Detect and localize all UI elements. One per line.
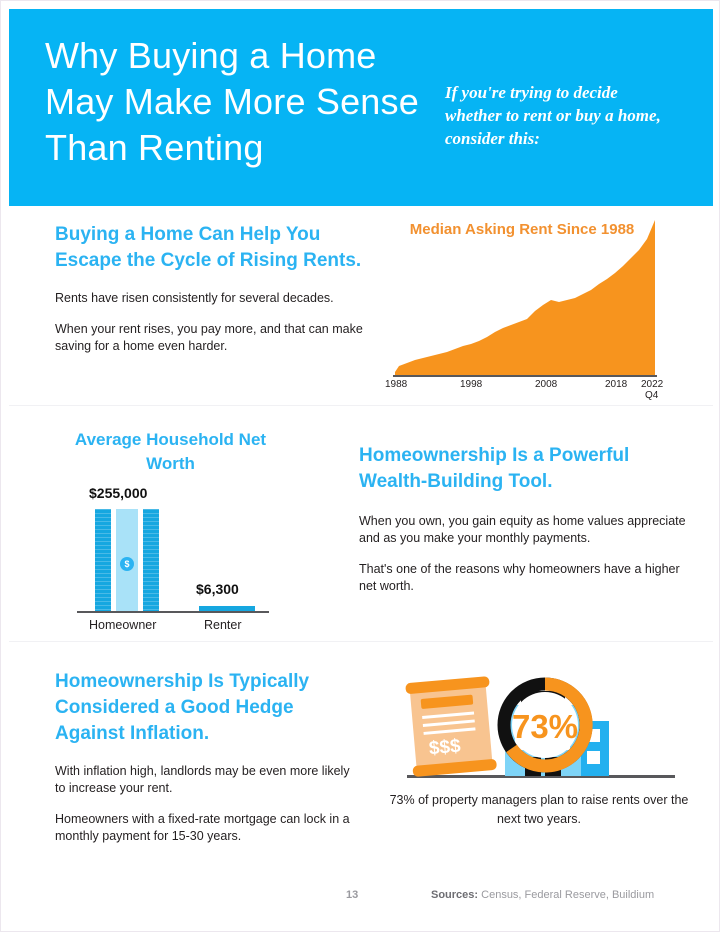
rent-tick-2018: 2018 (605, 379, 627, 391)
net-worth-bar-chart: $255,000 $ $6,300 Homeowner Renter (63, 485, 278, 635)
rent-axis-line (393, 375, 657, 377)
inflation-text-block: Homeownership Is Typically Considered a … (55, 669, 355, 845)
rent-tick-1988: 1988 (385, 379, 407, 391)
section-net-worth: Average Household Net Worth $255,000 $ $… (1, 405, 720, 641)
inflation-paragraph-1: With inflation high, landlords may be ev… (55, 763, 355, 797)
rising-rents-heading: Buying a Home Can Help You Escape the Cy… (55, 222, 375, 274)
wealth-building-paragraph-2: That's one of the reasons why homeowners… (359, 561, 699, 595)
category-renter: Renter (204, 618, 242, 632)
svg-text:$$$: $$$ (428, 736, 462, 760)
net-worth-chart-title: Average Household Net Worth (63, 428, 278, 476)
rent-area-path (395, 220, 655, 375)
wealth-building-text-block: Homeownership Is a Powerful Wealth-Build… (359, 443, 699, 595)
rent-tick-q4: Q4 (645, 390, 658, 402)
inflation-paragraph-2: Homeowners with a fixed-rate mortgage ca… (55, 811, 355, 845)
rising-rents-paragraph-1: Rents have risen consistently for severa… (55, 290, 375, 307)
donut-percent-label: 73% (512, 708, 578, 745)
rising-rents-paragraph-2: When your rent rises, you pay more, and … (55, 321, 375, 355)
lease-document-icon: $$$ (405, 676, 497, 777)
rent-area-plot (377, 213, 667, 398)
rent-increase-illustration: $$$ 73% (399, 663, 689, 788)
net-worth-axis-line (77, 611, 269, 613)
illustration-caption: 73% of property managers plan to raise r… (389, 791, 689, 829)
infographic-page: Why Buying a Home May Make More Sense Th… (0, 0, 720, 932)
wealth-building-heading: Homeownership Is a Powerful Wealth-Build… (359, 443, 699, 495)
inflation-heading: Homeownership Is Typically Considered a … (55, 669, 355, 747)
rent-tick-2008: 2008 (535, 379, 557, 391)
section-inflation: Homeownership Is Typically Considered a … (1, 643, 720, 873)
page-header: Why Buying a Home May Make More Sense Th… (9, 9, 713, 206)
illustration-svg: $$$ 73% (399, 663, 689, 788)
section-rising-rents: Buying a Home Can Help You Escape the Cy… (1, 207, 720, 403)
page-number: 13 (346, 889, 358, 901)
sources-value: Census, Federal Reserve, Buildium (478, 889, 654, 901)
page-footer: 13 Sources: Census, Federal Reserve, Bui… (1, 889, 720, 913)
homeowner-value-label: $255,000 (89, 485, 147, 501)
bar-homeowner: $ (95, 509, 159, 611)
sources-label: Sources: (431, 889, 478, 901)
rent-tick-1998: 1998 (460, 379, 482, 391)
category-homeowner: Homeowner (89, 618, 156, 632)
donut-chart-73: 73% (504, 684, 586, 766)
header-subtitle: If you're trying to decide whether to re… (445, 81, 675, 150)
page-title: Why Buying a Home May Make More Sense Th… (45, 33, 445, 171)
sources-line: Sources: Census, Federal Reserve, Buildi… (431, 889, 654, 901)
section-divider-2 (9, 641, 713, 642)
renter-value-label: $6,300 (196, 581, 239, 597)
dollar-coin-icon: $ (120, 557, 134, 571)
median-asking-rent-chart: Median Asking Rent Since 1988 1988 1998 … (377, 213, 667, 398)
wealth-building-paragraph-1: When you own, you gain equity as home va… (359, 513, 699, 547)
rising-rents-text-block: Buying a Home Can Help You Escape the Cy… (55, 222, 375, 355)
